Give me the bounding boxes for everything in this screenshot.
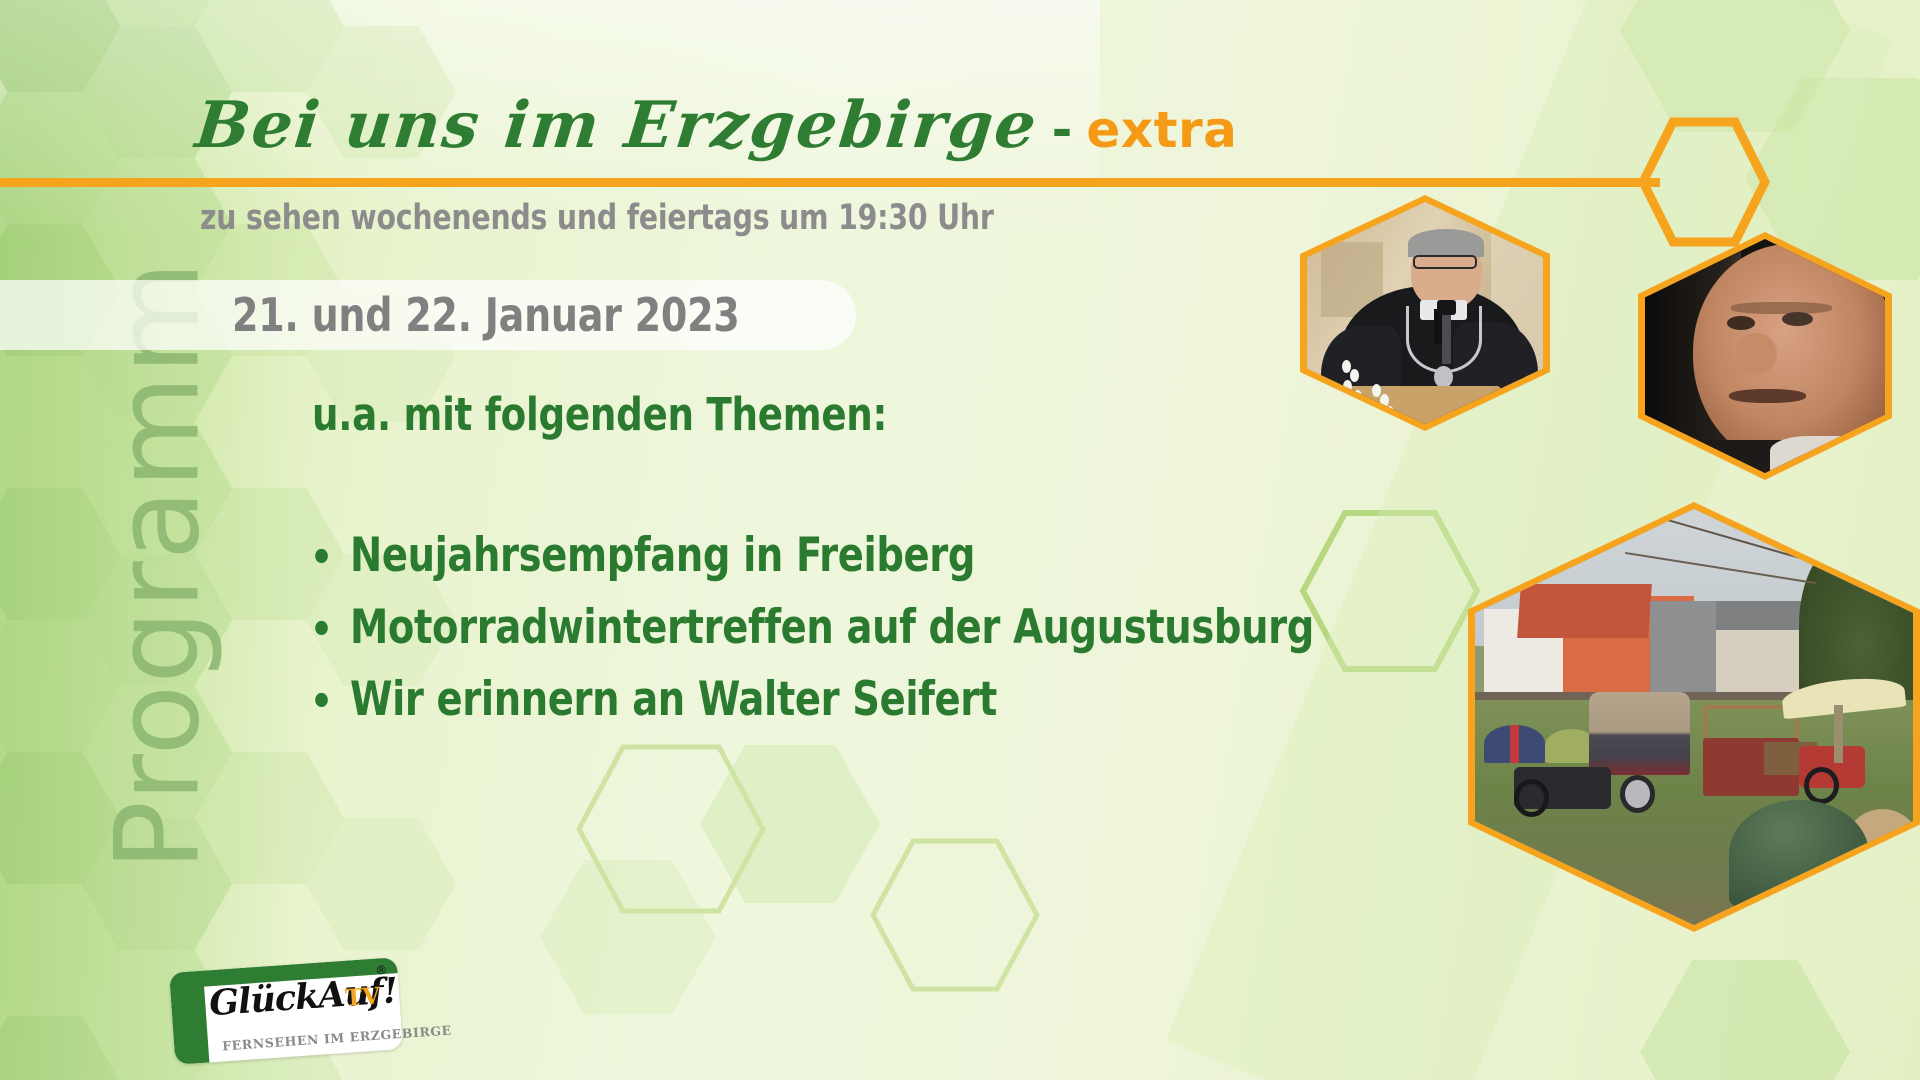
title-dash: -	[1048, 101, 1077, 159]
bg-hexagon	[1620, 0, 1850, 132]
photo-motorcycle-winter-camp	[1468, 502, 1920, 932]
logo-registered-icon: ®	[375, 963, 388, 978]
bg-hexagon	[194, 0, 344, 92]
bg-hexagon-outline	[870, 838, 1040, 992]
photo-elderly-man-image	[1645, 239, 1885, 473]
bullet-dot-icon: •	[310, 682, 333, 722]
bg-hexagon	[306, 818, 456, 950]
title-underline-rule	[0, 178, 1660, 187]
photo-elderly-man-portrait	[1638, 232, 1892, 480]
bullet-dot-icon: •	[310, 610, 333, 650]
list-item: • Wir erinnern an Walter Seifert	[310, 672, 1409, 727]
list-item-label: Motorradwintertreffen auf der Augustusbu…	[350, 600, 1314, 655]
list-item-label: Neujahrsempfang in Freiberg	[350, 528, 975, 583]
broadcast-date: 21. und 22. Januar 2023	[232, 288, 740, 342]
list-item-label: Wir erinnern an Walter Seifert	[350, 672, 997, 727]
themes-heading: u.a. mit folgenden Themen:	[312, 388, 887, 441]
topics-list: • Neujahrsempfang in Freiberg • Motorrad…	[310, 528, 1409, 744]
photo-motorcycle-winter-camp-image	[1475, 509, 1913, 925]
glueckauf-tv-logo[interactable]: GlückAuf! TV ® FERNSEHEN IM ERZGEBIRGE	[169, 957, 403, 1065]
title-extra-text: extra	[1086, 101, 1237, 159]
photo-speaker-image	[1307, 202, 1543, 424]
bullet-dot-icon: •	[310, 538, 333, 578]
list-item: • Motorradwintertreffen auf der Augustus…	[310, 600, 1409, 655]
bg-hexagon	[700, 745, 880, 903]
list-item: • Neujahrsempfang in Freiberg	[310, 528, 1409, 583]
broadcast-program-slide: Programm Bei uns im Erzgebirge - extra z…	[0, 0, 1920, 1080]
bg-hexagon	[0, 884, 120, 1016]
bg-hexagon	[0, 1016, 120, 1080]
logo-tv-text: TV	[344, 982, 381, 1011]
page-title: Bei uns im Erzgebirge - extra	[196, 88, 1237, 163]
bg-hexagon	[0, 92, 120, 224]
bg-hexagon	[0, 0, 120, 92]
bg-hexagon	[540, 860, 716, 1014]
broadcast-schedule-subtitle: zu sehen wochenends und feiertags um 19:…	[200, 198, 994, 238]
rule-end-hexagon-icon	[1638, 117, 1770, 247]
bg-hexagon-outline	[576, 744, 766, 914]
bg-hexagon	[1640, 960, 1850, 1080]
bg-hexagon	[82, 0, 232, 26]
photo-speaker-at-podium	[1300, 195, 1550, 431]
title-main-text: Bei uns im Erzgebirge	[192, 88, 1042, 163]
